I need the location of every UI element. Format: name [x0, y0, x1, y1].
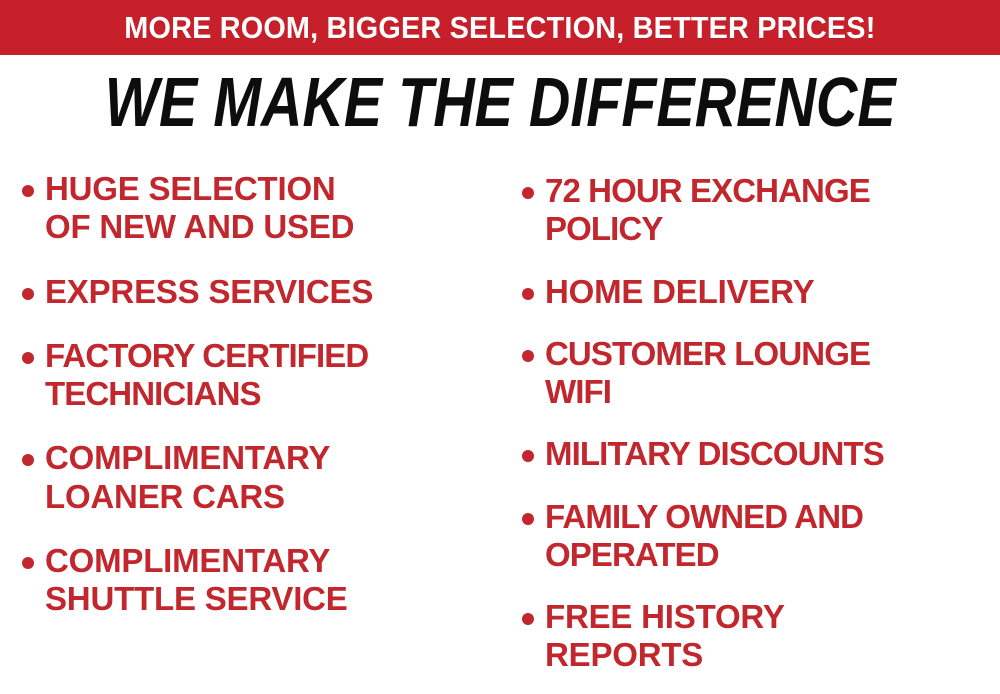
list-item-label: FAMILY OWNED AND OPERATED — [545, 498, 863, 575]
list-item: FREE HISTORY REPORTS — [522, 598, 1000, 675]
list-item: FACTORY CERTIFIED TECHNICIANS — [22, 337, 500, 414]
bullet-dot-icon — [22, 288, 34, 300]
list-item-label: COMPLIMENTARY SHUTTLE SERVICE — [45, 542, 348, 619]
list-item-label: COMPLIMENTARY LOANER CARS — [45, 439, 330, 516]
top-banner: MORE ROOM, BIGGER SELECTION, BETTER PRIC… — [0, 0, 1000, 55]
list-item-label: EXPRESS SERVICES — [45, 273, 373, 311]
list-item-label: CUSTOMER LOUNGE WIFI — [545, 335, 870, 412]
bullet-dot-icon — [522, 187, 534, 199]
list-item: COMPLIMENTARY SHUTTLE SERVICE — [22, 542, 500, 619]
bullet-dot-icon — [22, 185, 34, 197]
page-title: WE MAKE THE DIFFERENCE — [105, 67, 896, 137]
list-item: EXPRESS SERVICES — [22, 273, 500, 311]
bullet-dot-icon — [522, 513, 534, 525]
top-banner-text: MORE ROOM, BIGGER SELECTION, BETTER PRIC… — [124, 12, 875, 43]
list-item: 72 HOUR EXCHANGE POLICY — [522, 172, 1000, 249]
benefits-columns: HUGE SELECTION OF NEW AND USED EXPRESS S… — [0, 160, 1000, 694]
list-item: CUSTOMER LOUNGE WIFI — [522, 335, 1000, 412]
bullet-dot-icon — [522, 288, 534, 300]
benefits-column-left: HUGE SELECTION OF NEW AND USED EXPRESS S… — [0, 160, 500, 694]
list-item: COMPLIMENTARY LOANER CARS — [22, 439, 500, 516]
list-item: FAMILY OWNED AND OPERATED — [522, 498, 1000, 575]
list-item-label: HUGE SELECTION OF NEW AND USED — [45, 170, 354, 247]
list-item-label: HOME DELIVERY — [545, 273, 814, 311]
list-item-label: MILITARY DISCOUNTS — [545, 435, 884, 473]
list-item-label: FACTORY CERTIFIED TECHNICIANS — [45, 337, 368, 414]
bullet-dot-icon — [22, 454, 34, 466]
bullet-dot-icon — [522, 350, 534, 362]
bullet-dot-icon — [22, 557, 34, 569]
list-item: HOME DELIVERY — [522, 273, 1000, 311]
list-item-label: 72 HOUR EXCHANGE POLICY — [545, 172, 870, 249]
bullet-dot-icon — [22, 352, 34, 364]
list-item: MILITARY DISCOUNTS — [522, 435, 1000, 473]
headline-container: WE MAKE THE DIFFERENCE — [0, 63, 1000, 141]
bullet-dot-icon — [522, 613, 534, 625]
promo-poster: MORE ROOM, BIGGER SELECTION, BETTER PRIC… — [0, 0, 1000, 694]
bullet-dot-icon — [522, 450, 534, 462]
list-item-label: FREE HISTORY REPORTS — [545, 598, 785, 675]
benefits-column-right: 72 HOUR EXCHANGE POLICY HOME DELIVERY CU… — [500, 160, 1000, 694]
list-item: HUGE SELECTION OF NEW AND USED — [22, 170, 500, 247]
